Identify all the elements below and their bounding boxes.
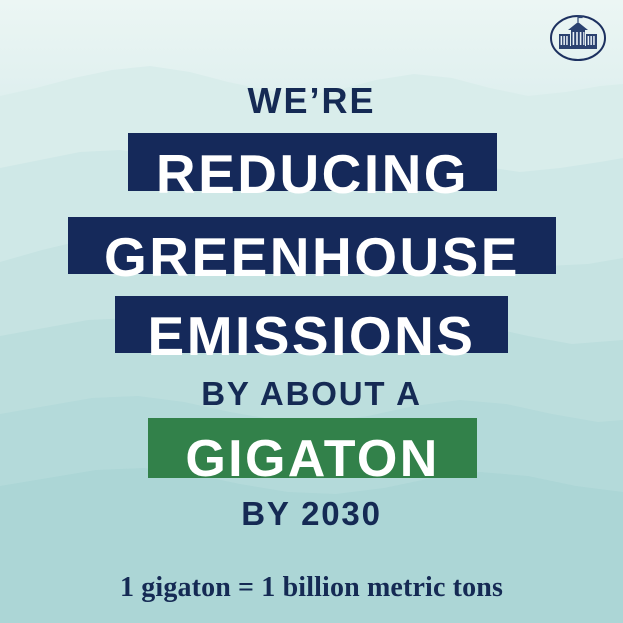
footnote-text: 1 gigaton = 1 billion metric tons (0, 572, 623, 604)
headline-line-by-2030: BY 2030 (0, 497, 623, 530)
headline-line-reducing: REDUCING (128, 133, 497, 191)
headline-line-gigaton: GIGATON (148, 418, 477, 478)
headline-line-greenhouse: GREENHOUSE (68, 217, 556, 274)
headline-stack: WE’RE REDUCING GREENHOUSE EMISSIONS BY A… (0, 0, 623, 623)
headline-line-by-about-a: BY ABOUT A (0, 377, 623, 410)
headline-line-emissions: EMISSIONS (115, 296, 508, 353)
infographic-canvas: WE’RE REDUCING GREENHOUSE EMISSIONS BY A… (0, 0, 623, 623)
headline-line-were: WE’RE (0, 83, 623, 119)
